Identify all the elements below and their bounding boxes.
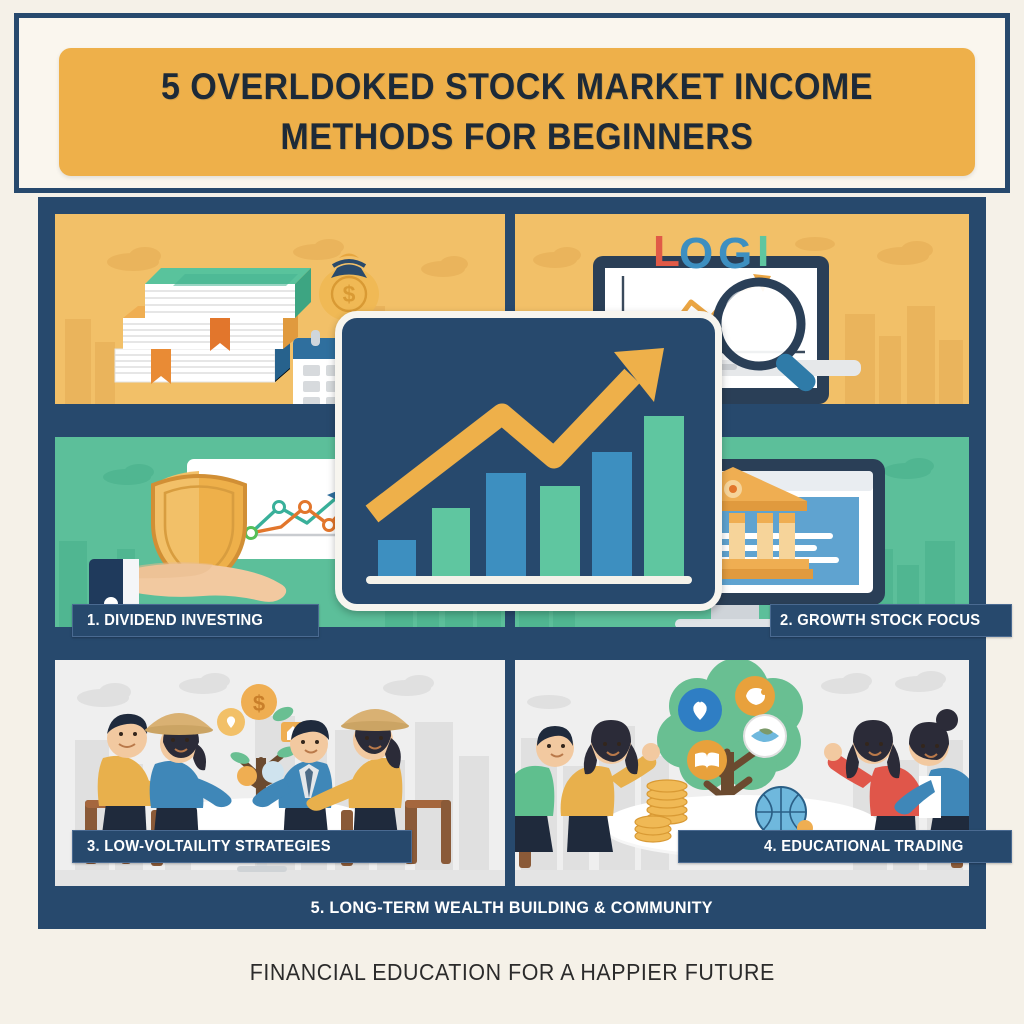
panel-grid: $ [55,214,969,886]
svg-text:L: L [653,227,680,276]
label-long-term-wealth-building[interactable]: 5. LONG-TERM WEALTH BUILDING & COMMUNITY [38,886,986,929]
infographic-poster: 5 OVERLDOKED STOCK MARKET INCOME METHODS… [0,0,1024,1024]
svg-text:O: O [679,229,713,278]
label-text: 1. DIVIDEND INVESTING [87,612,263,630]
label-text: 3. LOW-VOLTAILITY STRATEGIES [87,838,331,856]
bar-chart-with-arrow [342,318,715,604]
svg-text:I: I [757,227,769,276]
label-text: 2. GROWTH STOCK FOCUS [780,612,980,630]
footer-text: FINANCIAL EDUCATION FOR A HAPPIER FUTURE [249,959,774,986]
label-growth-stock-focus[interactable]: 2. GROWTH STOCK FOCUS [770,604,1012,637]
page-title: 5 OVERLDOKED STOCK MARKET INCOME METHODS… [161,62,873,162]
content-frame: $ [38,197,986,929]
growth-chart-panel [335,311,722,611]
page-title-line2: METHODS FOR BEGINNERS [161,112,873,162]
svg-text:$: $ [253,691,265,716]
footer: FINANCIAL EDUCATION FOR A HAPPIER FUTURE [0,945,1024,1000]
title-box: 5 OVERLDOKED STOCK MARKET INCOME METHODS… [59,48,975,176]
svg-text:$: $ [343,281,356,307]
title-frame: 5 OVERLDOKED STOCK MARKET INCOME METHODS… [14,13,1010,193]
label-dividend-investing[interactable]: 1. DIVIDEND INVESTING [72,604,319,637]
label-educational-trading[interactable]: 4. EDUCATIONAL TRADING [678,830,1012,863]
label-text: 4. EDUCATIONAL TRADING [764,838,964,856]
label-low-volatility-strategies[interactable]: 3. LOW-VOLTAILITY STRATEGIES [72,830,412,863]
svg-text:G: G [718,229,752,278]
page-title-line1: 5 OVERLDOKED STOCK MARKET INCOME [161,62,873,112]
label-text: 5. LONG-TERM WEALTH BUILDING & COMMUNITY [311,898,713,918]
